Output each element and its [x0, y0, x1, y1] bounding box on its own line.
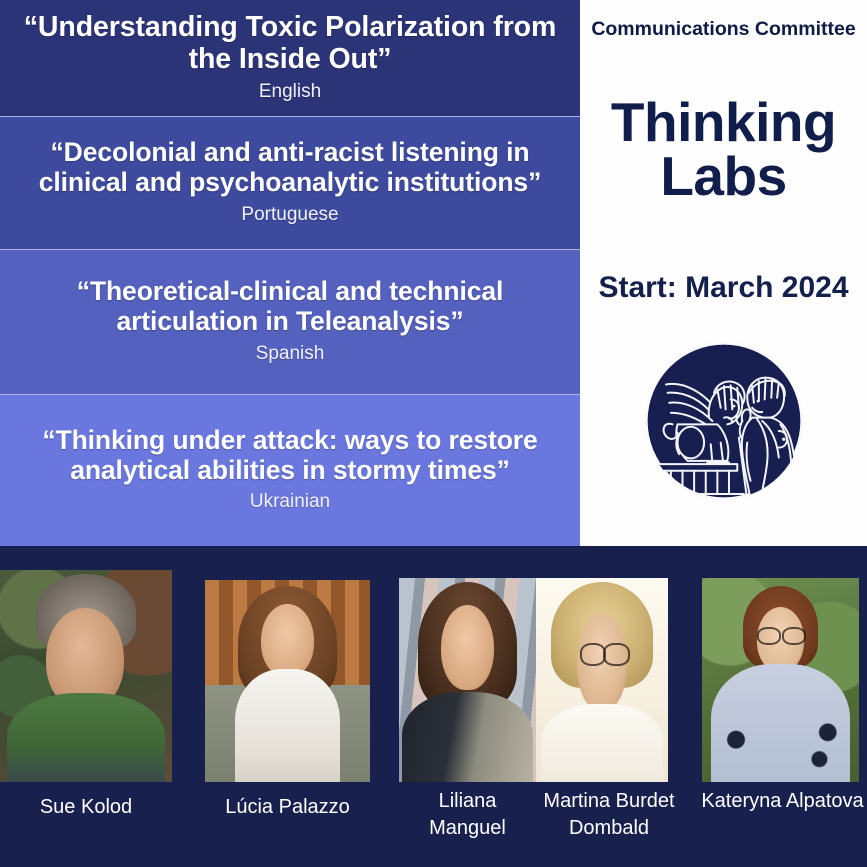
glasses-icon — [782, 627, 806, 645]
start-date-label: Start: March 2024 — [580, 271, 867, 305]
speaker-photo-sue-kolod[interactable] — [0, 570, 172, 782]
thinking-labs-poster: “Understanding Toxic Polarization from t… — [0, 0, 867, 867]
speaker-photo-lucia-palazzo[interactable] — [205, 580, 370, 782]
topic-title: “Theoretical-clinical and technical arti… — [14, 277, 566, 337]
info-panel: Communications Committee Thinking Labs S… — [580, 0, 867, 546]
speaker-strip: Sue Kolod Lúcia Palazzo Liliana Manguel … — [0, 546, 867, 867]
topic-band-list: “Understanding Toxic Polarization from t… — [0, 0, 580, 546]
photo-image — [0, 570, 172, 782]
topic-language: Portuguese — [241, 204, 338, 226]
topic-band-ukrainian[interactable]: “Thinking under attack: ways to restore … — [0, 394, 580, 546]
photo-image — [205, 580, 370, 782]
speaker-name: Lúcia Palazzo — [190, 794, 385, 821]
topic-language: Ukrainian — [250, 491, 330, 513]
topic-language: English — [259, 81, 321, 103]
speaker-name: Sue Kolod — [0, 794, 172, 821]
speaker-name: Liliana Manguel — [399, 788, 536, 842]
photo-body — [541, 704, 662, 782]
topic-band-english[interactable]: “Understanding Toxic Polarization from t… — [0, 0, 580, 116]
topic-title: “Decolonial and anti-racist listening in… — [14, 138, 566, 198]
topic-band-spanish[interactable]: “Theoretical-clinical and technical arti… — [0, 249, 580, 394]
speaker-photo-kateryna-alpatova[interactable] — [702, 578, 859, 782]
glasses-icon — [603, 643, 629, 665]
glasses-icon — [580, 643, 606, 665]
photo-face — [261, 604, 314, 677]
ipa-sphinx-oedipus-logo — [641, 338, 807, 504]
photo-body — [7, 693, 165, 782]
photo-body — [235, 669, 341, 782]
photo-face — [441, 605, 493, 691]
photo-image — [399, 578, 536, 782]
topic-language: Spanish — [256, 343, 325, 365]
photo-image — [536, 578, 668, 782]
topic-title: “Understanding Toxic Polarization from t… — [14, 11, 566, 75]
photo-image — [702, 578, 859, 782]
speaker-photo-liliana-manguel[interactable] — [399, 578, 536, 782]
photo-body — [711, 664, 849, 782]
topic-band-portuguese[interactable]: “Decolonial and anti-racist listening in… — [0, 116, 580, 249]
page-title: Thinking Labs — [580, 95, 867, 204]
speaker-name: Martina Burdet Dombald — [524, 788, 694, 842]
speaker-photo-martina-burdet-dombald[interactable] — [536, 578, 668, 782]
topic-title: “Thinking under attack: ways to restore … — [14, 426, 566, 486]
photo-body — [402, 692, 534, 782]
glasses-icon — [757, 627, 781, 645]
committee-label: Communications Committee — [580, 17, 867, 43]
speaker-name: Kateryna Alpatova — [700, 788, 865, 815]
